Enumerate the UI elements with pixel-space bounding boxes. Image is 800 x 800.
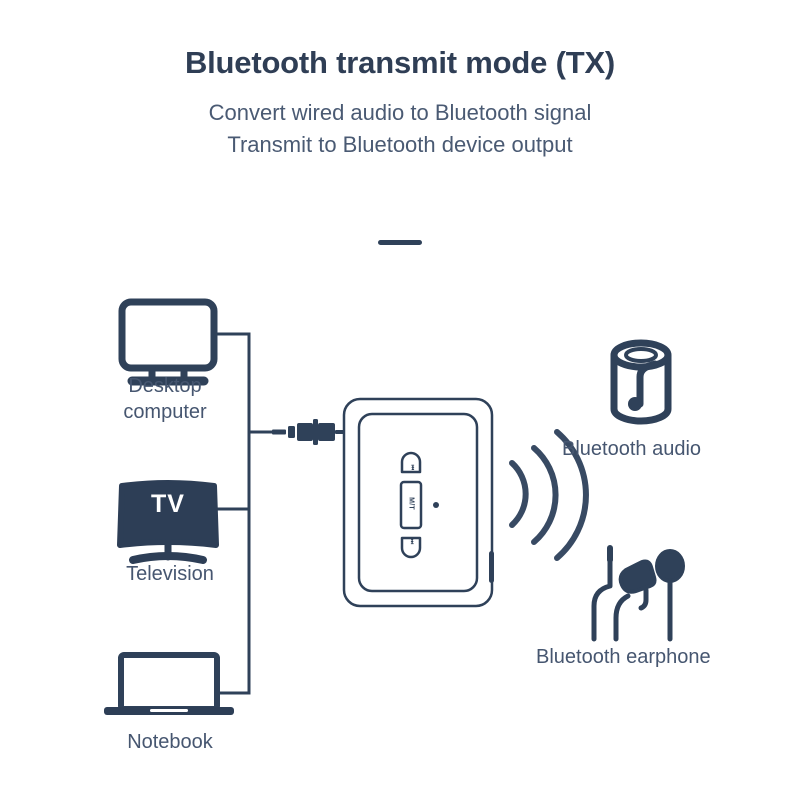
earphone-cable-left — [616, 596, 628, 639]
label-desktop-computer: Desktopcomputer — [100, 374, 230, 425]
speaker-top-inner — [626, 349, 656, 361]
jack-cable-lead — [272, 430, 286, 435]
signal-arc-1 — [512, 463, 526, 525]
earbud-left-tip — [641, 590, 646, 608]
earphone-cable-main — [594, 560, 610, 639]
laptop-icon — [104, 655, 234, 715]
label-desktop-line-1: Desktop — [128, 375, 201, 397]
bluetooth-earphone-icon — [594, 548, 683, 639]
signal-arc-2 — [534, 448, 556, 542]
label-desktop-line-2: computer — [123, 401, 206, 423]
monitor-screen — [122, 302, 214, 368]
desktop-monitor-icon — [122, 302, 214, 381]
page-root: Bluetooth transmit mode (TX) Convert wir… — [0, 0, 800, 800]
jack-collar — [288, 426, 295, 438]
music-note-head — [628, 397, 642, 411]
music-note-stem — [640, 364, 655, 404]
jack-tip-barrel — [318, 423, 335, 441]
earbud-left — [621, 562, 655, 592]
label-bluetooth-earphone: Bluetooth earphone — [536, 645, 711, 671]
laptop-screen — [121, 655, 217, 709]
tv-stand — [133, 556, 203, 560]
jack-ring — [313, 419, 318, 445]
label-bluetooth-audio: Bluetooth audio — [562, 437, 701, 463]
label-television: Television — [100, 562, 240, 588]
bluetooth-transmitter-device[interactable] — [344, 399, 494, 606]
label-notebook: Notebook — [100, 730, 240, 756]
audio-jack-3-5mm-icon — [272, 419, 347, 445]
bluetooth-speaker-icon — [614, 343, 668, 421]
earbud-right — [657, 551, 683, 581]
laptop-trackpad — [150, 709, 188, 712]
mode-toggle-button-label: M/T — [408, 487, 415, 521]
next-track-button-label: ⏭ — [408, 529, 415, 555]
previous-track-button-label: ⏮ — [408, 455, 415, 481]
jack-body — [297, 423, 313, 441]
tv-screen-text: TV — [120, 490, 216, 519]
device-side-button[interactable] — [489, 551, 494, 583]
status-led — [433, 502, 439, 508]
speaker-top-rim — [614, 343, 668, 367]
